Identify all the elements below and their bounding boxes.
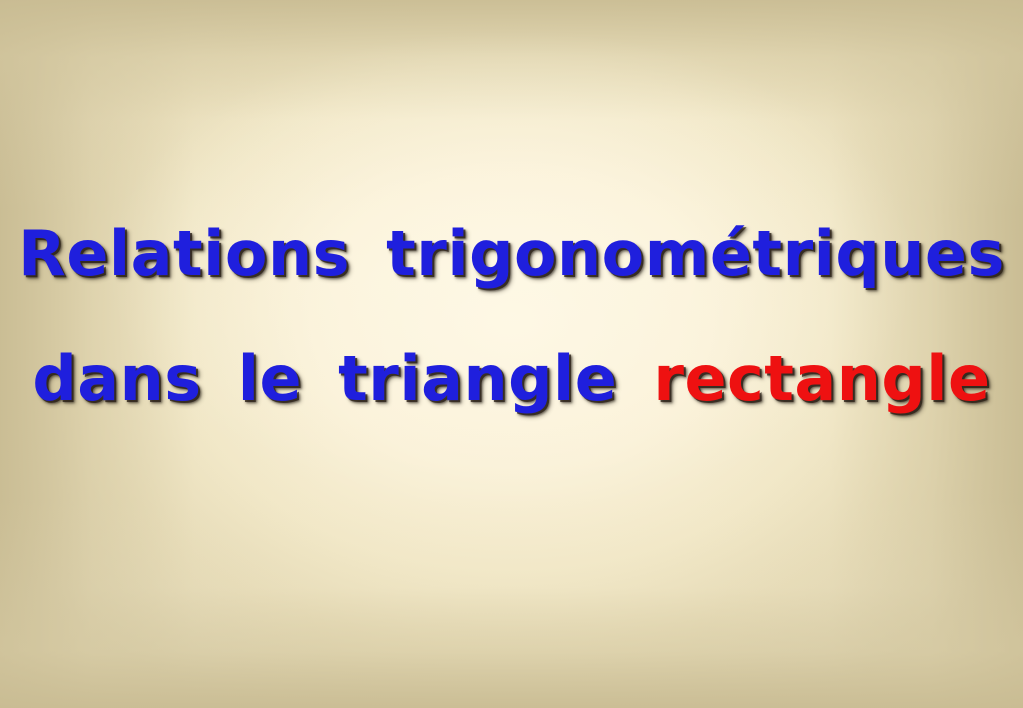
title-line-1: Relations trigonométriques — [0, 222, 1023, 285]
title-segment-red: rectangle — [653, 342, 990, 415]
slide-title-block: Relations trigonométriques dans le trian… — [0, 222, 1023, 410]
slide-canvas: Relations trigonométriques dans le trian… — [0, 0, 1023, 708]
title-line-2: dans le triangle rectangle — [0, 347, 1023, 410]
title-segment-blue: dans le triangle — [32, 342, 653, 415]
